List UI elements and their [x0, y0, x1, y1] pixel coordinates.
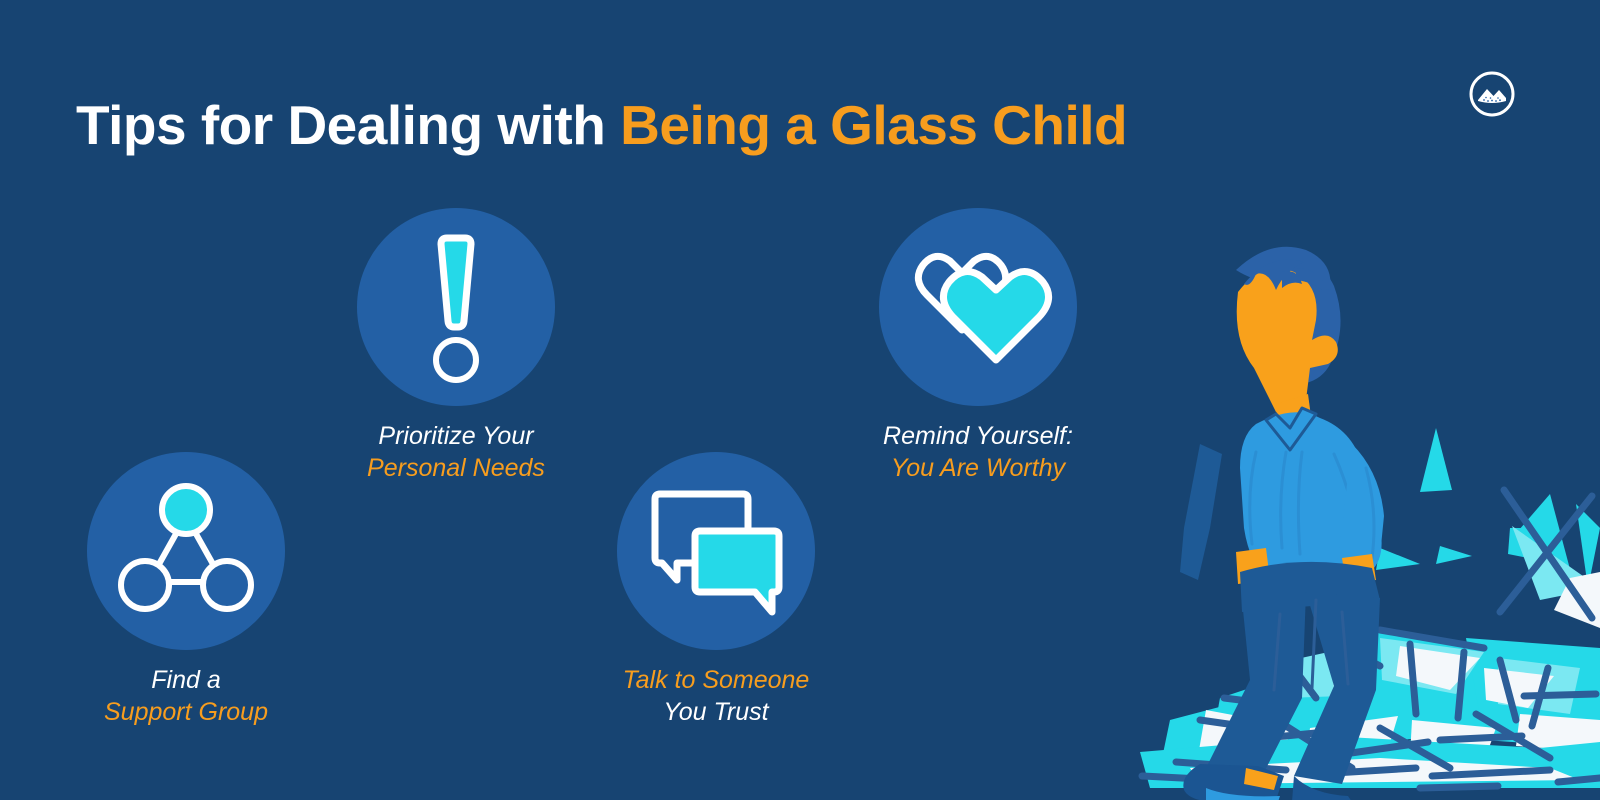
two-hearts-icon — [879, 208, 1077, 406]
person-walking-past-broken-glass-illustration — [1080, 228, 1600, 800]
infographic-canvas: Tips for Dealing with Being a Glass Chil… — [0, 0, 1600, 800]
tip-label: Prioritize Your Personal Needs — [316, 420, 596, 484]
mountain-logo-icon[interactable] — [1468, 70, 1516, 118]
tip-label-line2: Personal Needs — [316, 452, 596, 484]
tip-icon-circle — [617, 452, 815, 650]
tip-label: Talk to Someone You Trust — [576, 664, 856, 728]
page-title: Tips for Dealing with Being a Glass Chil… — [76, 95, 1127, 156]
exclamation-mark-icon — [357, 208, 555, 406]
tip-icon-circle — [87, 452, 285, 650]
page-title-white-part: Tips for Dealing with — [76, 94, 620, 156]
tip-label: Remind Yourself: You Are Worthy — [838, 420, 1118, 484]
tip-icon-circle — [879, 208, 1077, 406]
tip-label-line2: You Trust — [576, 696, 856, 728]
network-triangle-icon — [87, 452, 285, 650]
tip-card-you-are-worthy[interactable]: Remind Yourself: You Are Worthy — [838, 208, 1118, 484]
tip-label-line1: Prioritize Your — [316, 420, 596, 452]
tip-card-talk-to-someone[interactable]: Talk to Someone You Trust — [576, 452, 856, 728]
tip-label-line1: Talk to Someone — [576, 664, 856, 696]
page-title-orange-part: Being a Glass Child — [620, 94, 1127, 156]
tip-label-line1: Find a — [46, 664, 326, 696]
tip-label-line2: You Are Worthy — [838, 452, 1118, 484]
tip-card-personal-needs[interactable]: Prioritize Your Personal Needs — [316, 208, 596, 484]
tip-label-line2: Support Group — [46, 696, 326, 728]
tip-label-line1: Remind Yourself: — [838, 420, 1118, 452]
tip-card-support-group[interactable]: Find a Support Group — [46, 452, 326, 728]
speech-bubbles-icon — [617, 452, 815, 650]
tip-label: Find a Support Group — [46, 664, 326, 728]
tip-icon-circle — [357, 208, 555, 406]
